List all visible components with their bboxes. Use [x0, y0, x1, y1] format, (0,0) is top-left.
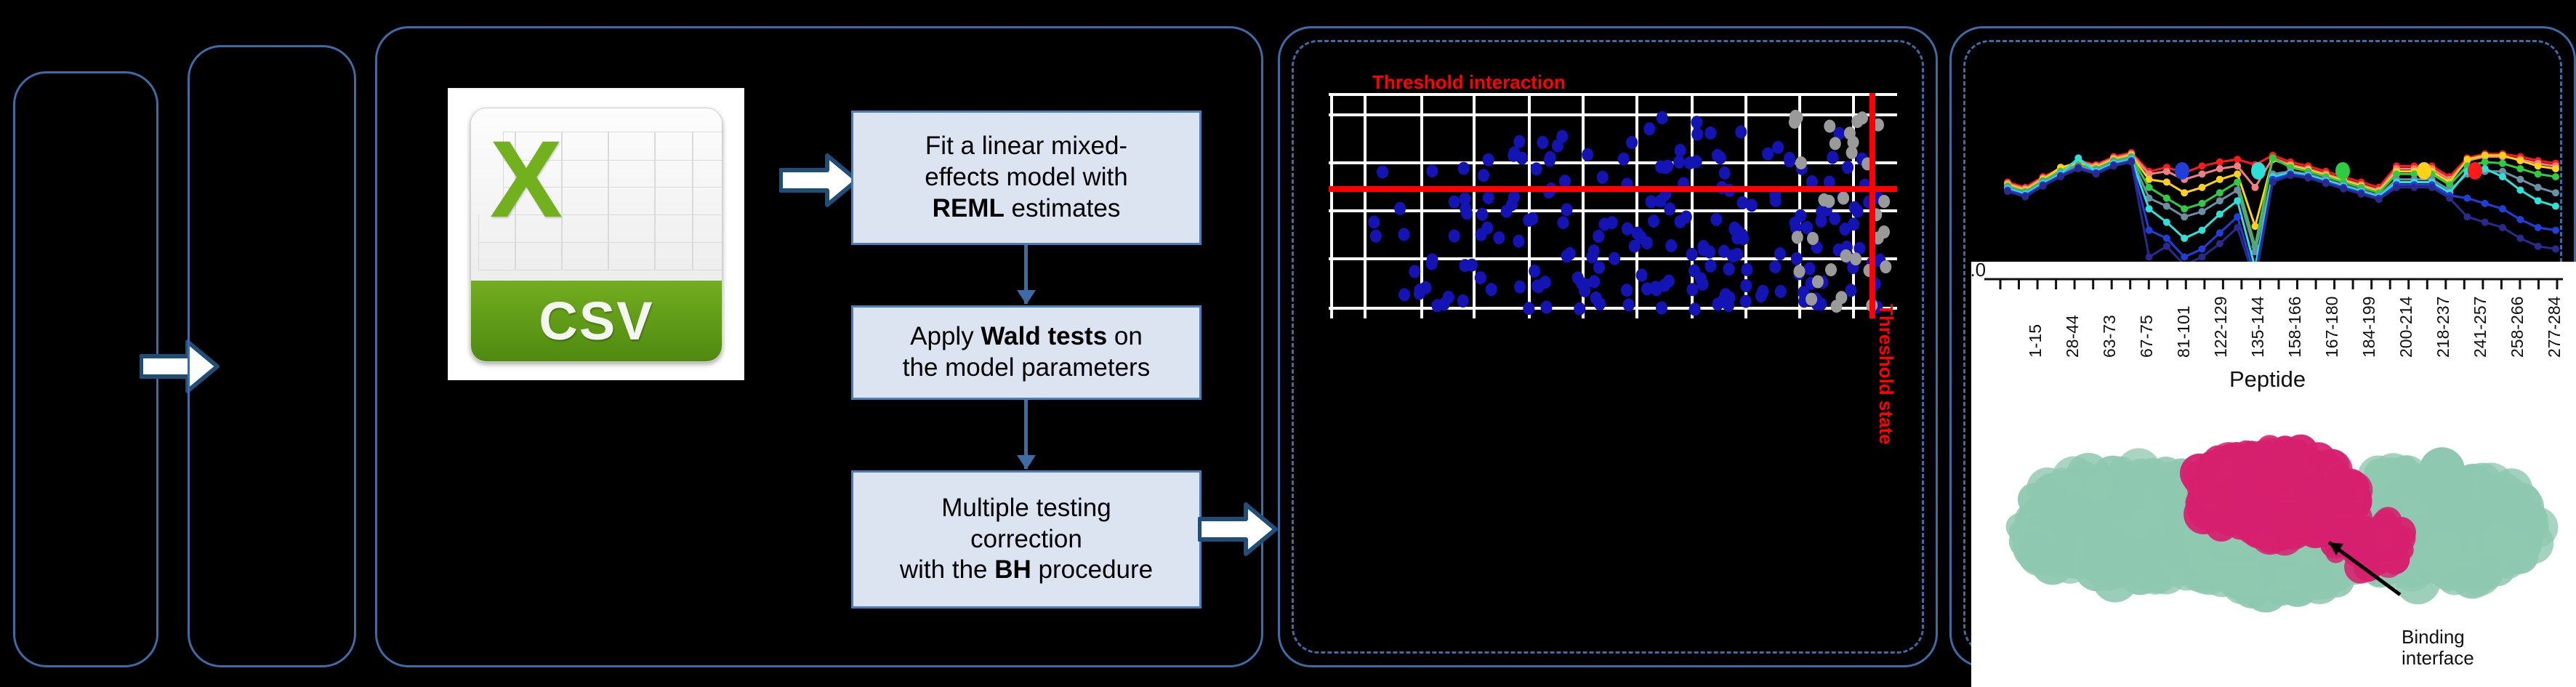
arrow-analysis-to-scatter — [1198, 502, 1278, 557]
scatter-points — [1368, 110, 1891, 316]
input-panel — [13, 71, 158, 667]
connector-reml-wald — [1024, 245, 1028, 304]
peptide-tick-label: 184-199 — [2359, 297, 2379, 358]
binding-interface-annotation: Binding interface — [2402, 627, 2474, 669]
peptide-tick-label: 28-44 — [2063, 315, 2082, 358]
peptide-tick-label: 1-15 — [2026, 324, 2045, 358]
protein-structure — [1971, 400, 2576, 640]
peptide-tick-label: 158-166 — [2285, 297, 2305, 358]
threshold-state-line — [1869, 93, 1875, 318]
binding-interface-line1: Binding — [2402, 627, 2474, 648]
wald-box-text: Apply Wald tests onthe model parameters — [903, 321, 1150, 383]
peptide-axis — [1971, 262, 2576, 295]
peptide-tick-label: 200-214 — [2396, 297, 2416, 358]
threshold-interaction-label: Threshold interaction — [1372, 71, 1566, 94]
threshold-state-label: Threshold state — [1875, 304, 1897, 445]
peptide-tick-label: 258-266 — [2508, 297, 2527, 358]
legend-dot-yellow — [2417, 162, 2431, 180]
peptide-tick-label: 81-101 — [2174, 305, 2194, 358]
x-axis-label: Peptide — [2229, 366, 2306, 393]
peptide-tick-label: 167-180 — [2322, 297, 2342, 358]
y-axis-zero-label: 0.0 — [1971, 262, 1986, 281]
reml-box[interactable]: Fit a linear mixed-effects model withREM… — [851, 111, 1202, 245]
legend-dot-blue — [2175, 162, 2189, 180]
legend-dot-red — [2468, 162, 2482, 180]
structure-card: 0.0 1-1528-4463-7367-7581-101122-129135-… — [1971, 262, 2576, 687]
threshold-interaction-line — [1329, 186, 1897, 192]
peptide-tick-label: 218-237 — [2434, 297, 2453, 358]
binding-interface-line2: interface — [2402, 648, 2474, 669]
legend-dot-green — [2335, 162, 2350, 180]
bh-box[interactable]: Multiple testingcorrectionwith the BH pr… — [851, 470, 1202, 608]
scatter-canvas — [1329, 93, 1897, 318]
peptide-tick-label: 277-284 — [2545, 297, 2564, 358]
peptide-tick-label: 241-257 — [2471, 297, 2490, 358]
wald-box[interactable]: Apply Wald tests onthe model parameters — [851, 305, 1202, 400]
peptide-tick-label: 67-75 — [2137, 315, 2157, 358]
peptide-tick-label: 63-73 — [2100, 315, 2120, 358]
bh-box-text: Multiple testingcorrectionwith the BH pr… — [900, 493, 1153, 586]
legend-dot-cyan — [2251, 162, 2266, 180]
peptide-tick-label: 122-129 — [2211, 297, 2231, 358]
peptide-tick-label: 135-144 — [2248, 297, 2268, 358]
csv-panel — [188, 45, 356, 667]
scatter-plot — [1329, 93, 1897, 318]
connector-wald-bh — [1024, 400, 1028, 469]
reml-box-text: Fit a linear mixed-effects model withREM… — [925, 131, 1128, 224]
